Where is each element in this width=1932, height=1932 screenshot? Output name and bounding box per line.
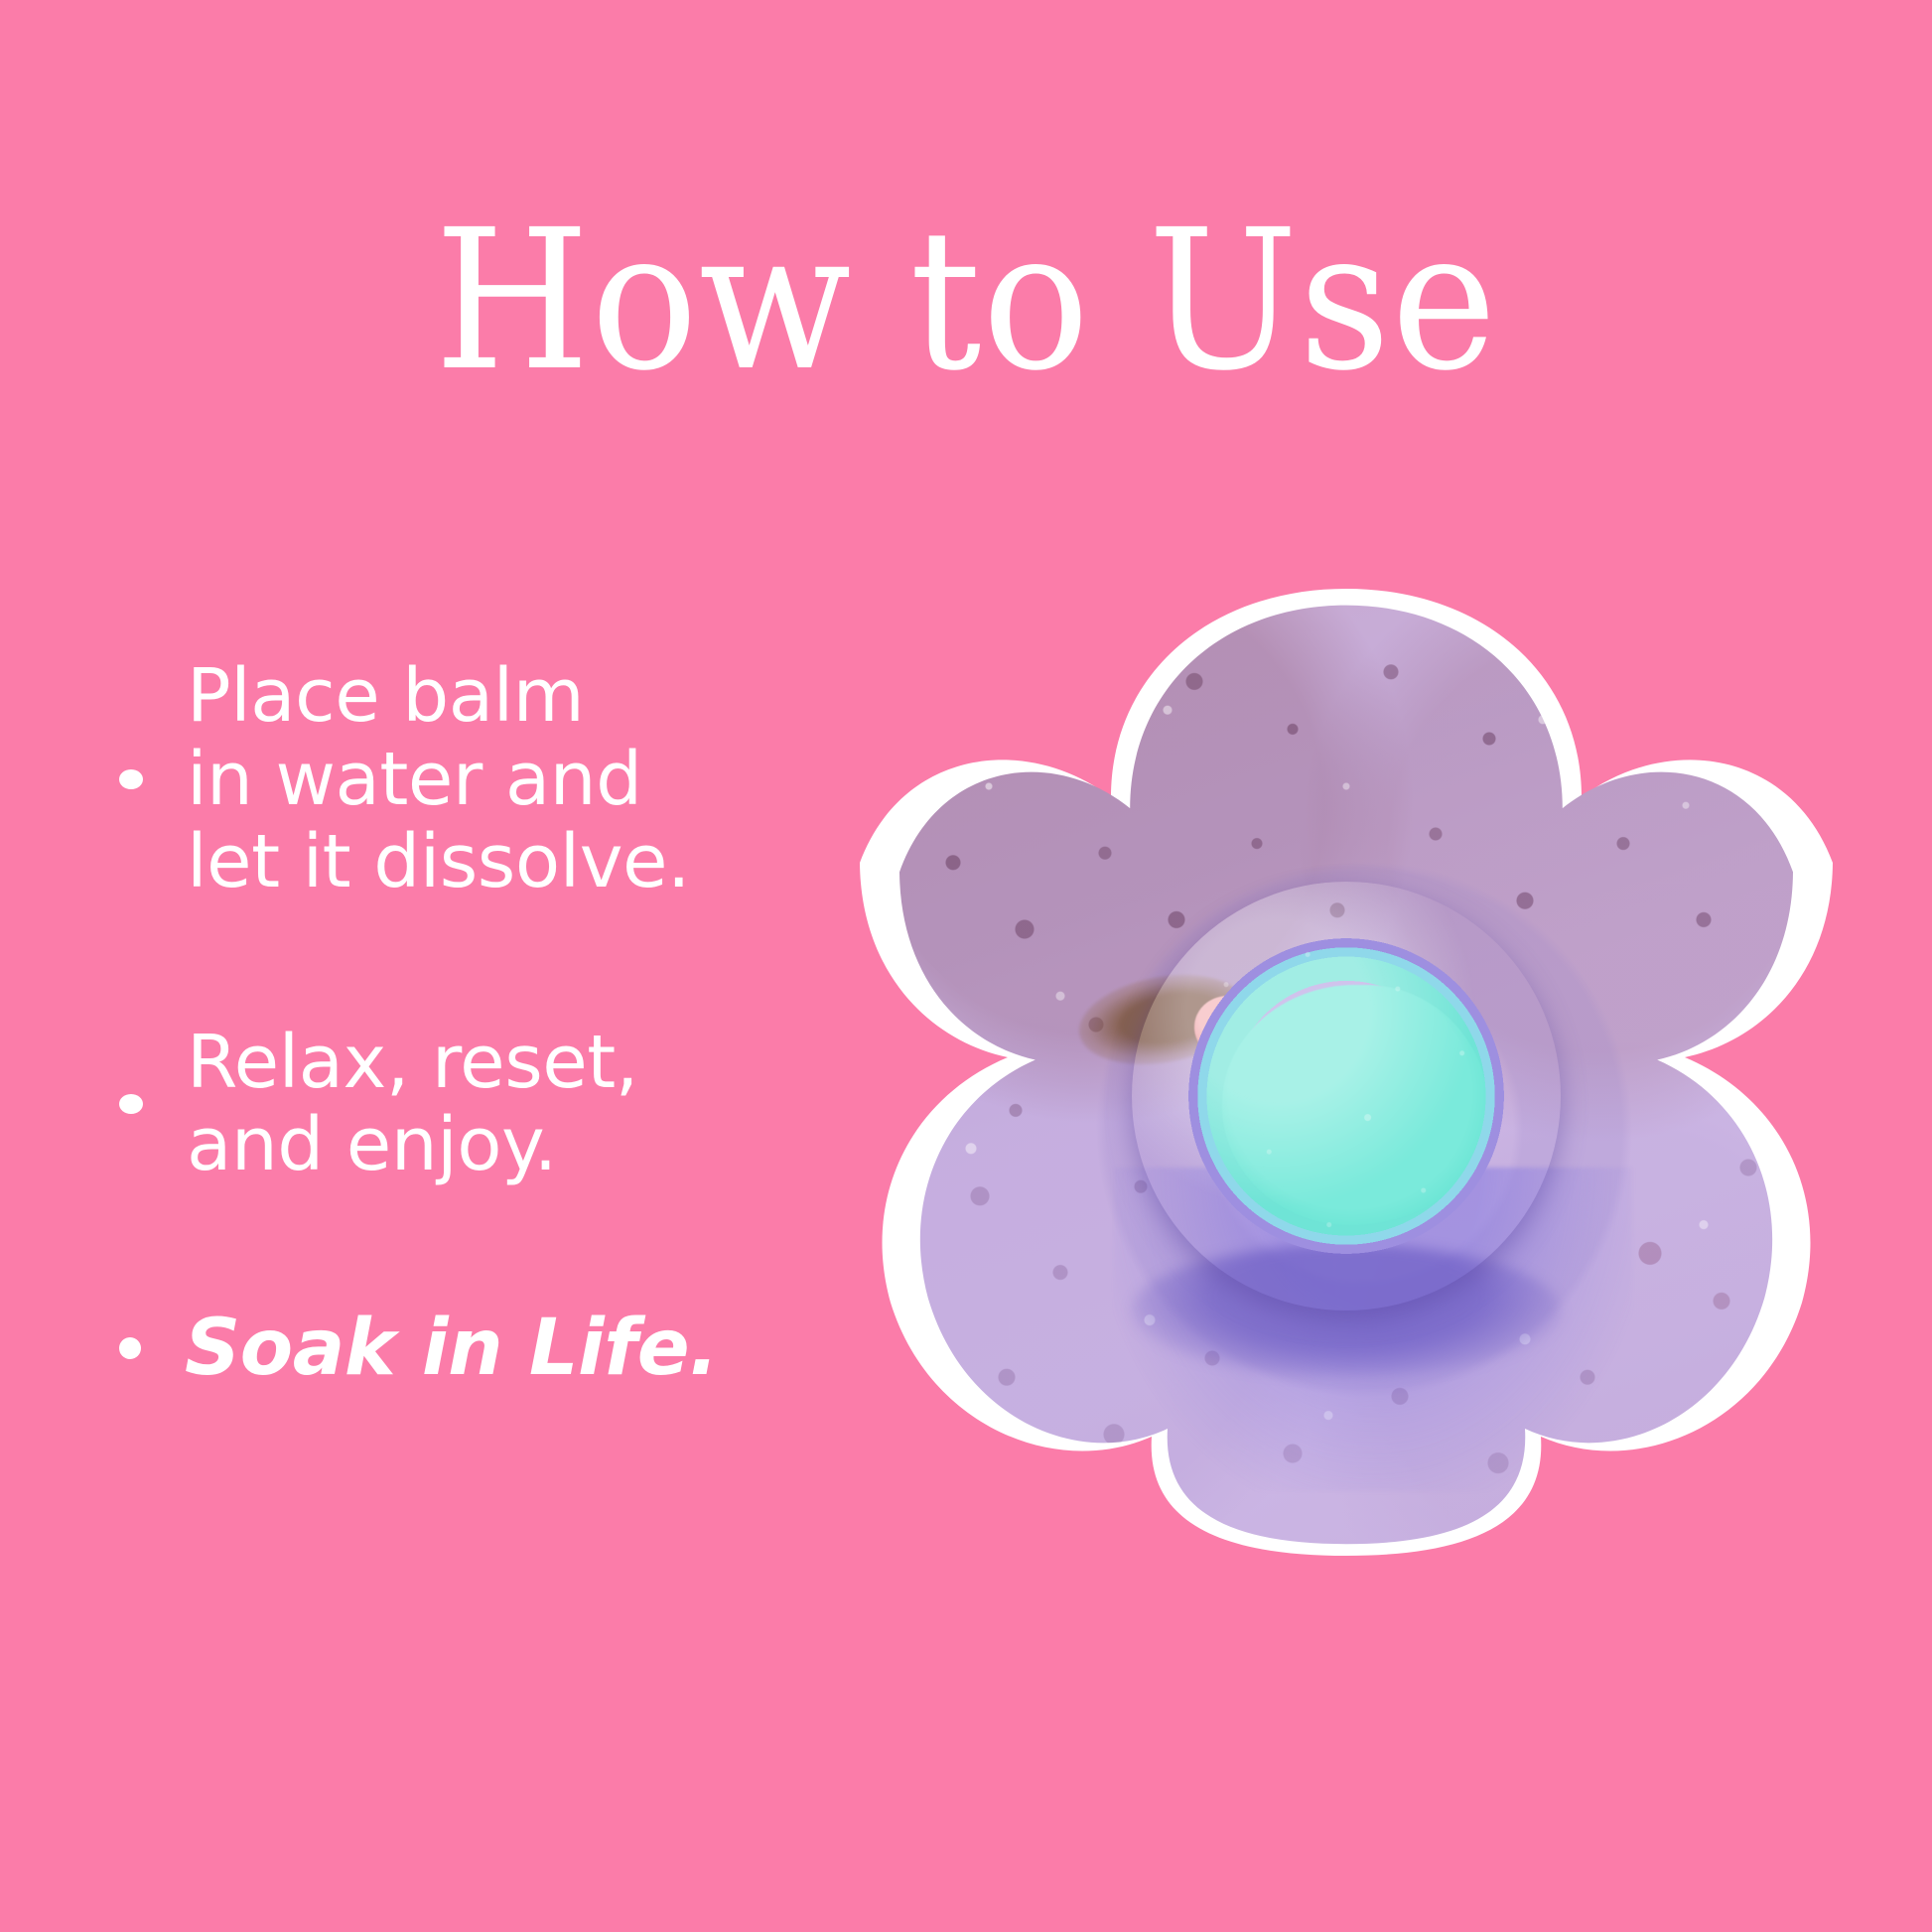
list-item-text: Place balm in water and let it dissolve.	[187, 655, 690, 904]
bath-bomb-grain	[1132, 882, 1561, 1311]
list-item-line: Soak in Life.	[185, 1305, 718, 1392]
list-item: Relax, reset, and enjoy.	[119, 1022, 834, 1187]
list-item: Soak in Life.	[119, 1305, 834, 1392]
bullet-dot-icon	[119, 1094, 143, 1114]
list-item-text: Relax, reset, and enjoy.	[187, 1022, 638, 1187]
page-title: How to Use	[77, 204, 1855, 397]
list-item-line: and enjoy.	[187, 1104, 638, 1187]
product-image	[899, 596, 1793, 1549]
bath-bomb	[1132, 882, 1561, 1311]
list-item: Place balm in water and let it dissolve.	[119, 655, 834, 904]
instructions-list: Place balm in water and let it dissolve.…	[119, 655, 834, 1392]
bullet-dot-icon	[119, 769, 143, 789]
poster-canvas: How to Use Place balm in water and let i…	[0, 0, 1932, 1932]
list-item-line: let it dissolve.	[187, 821, 690, 904]
list-item-text: Soak in Life.	[185, 1305, 718, 1392]
list-item-line: Relax, reset,	[187, 1022, 638, 1105]
list-item-line: in water and	[187, 739, 690, 822]
bullet-dot-icon	[119, 1337, 141, 1359]
list-item-line: Place balm	[187, 655, 690, 739]
